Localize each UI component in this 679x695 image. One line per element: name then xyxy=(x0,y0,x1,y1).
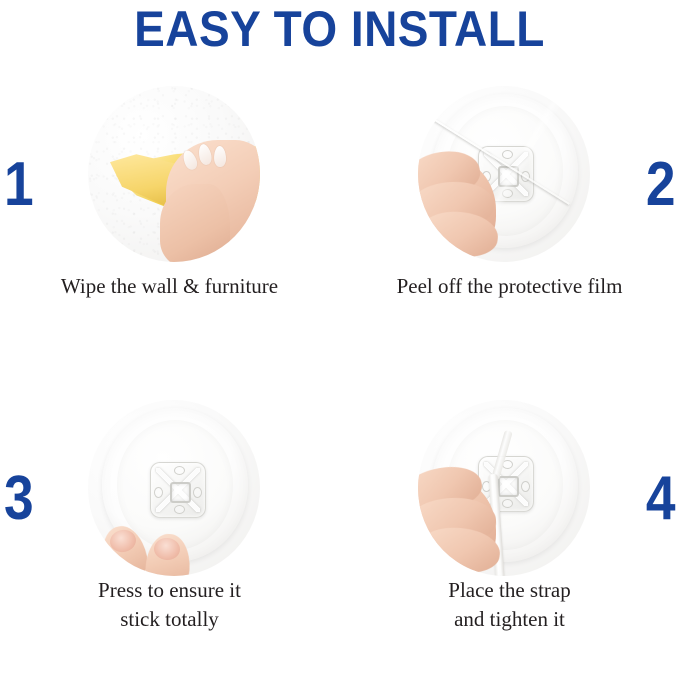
mount-center-hole-icon xyxy=(498,476,519,497)
step-4-photo xyxy=(418,400,590,576)
step-number-2: 2 xyxy=(645,154,675,216)
mount-center-hole-icon xyxy=(170,482,191,503)
mount-slot-bottom-icon xyxy=(502,189,513,198)
step-number-3: 3 xyxy=(4,468,34,530)
mount-slot-bottom-icon xyxy=(174,505,185,514)
step-4-caption: Place the strap and tighten it xyxy=(340,576,679,634)
mount-slot-left-icon xyxy=(154,487,163,498)
fingernail-icon xyxy=(197,143,213,166)
fingernail-icon xyxy=(170,194,191,216)
hand-icon xyxy=(166,140,260,262)
install-steps-grid: 1 Wipe the wall & furniture 2 xyxy=(0,66,679,695)
step-2-caption: Peel off the protective film xyxy=(340,272,679,301)
mount-slot-right-icon xyxy=(193,487,202,498)
mount-slot-right-icon xyxy=(521,481,530,492)
step-number-4: 4 xyxy=(645,468,675,530)
cable-tie-mount-icon xyxy=(150,462,206,518)
step-3-photo xyxy=(88,400,260,576)
install-step-4: 4 Place the strap and tighten it xyxy=(340,380,679,680)
fingernail-icon xyxy=(214,146,227,167)
page-title: EASY TO INSTALL xyxy=(27,2,652,56)
step-number-1: 1 xyxy=(4,154,34,216)
install-step-1: 1 Wipe the wall & furniture xyxy=(0,66,339,366)
fingernail-icon xyxy=(181,148,200,171)
install-step-3: 3 Press to ensure it stick totally xyxy=(0,380,339,680)
mount-slot-top-icon xyxy=(174,466,185,475)
step-1-photo xyxy=(88,86,260,262)
install-step-2: 2 Peel off the protective film xyxy=(340,66,679,366)
step-2-photo xyxy=(418,86,590,262)
mount-slot-top-icon xyxy=(502,150,513,159)
step-1-caption: Wipe the wall & furniture xyxy=(0,272,339,301)
step-3-caption: Press to ensure it stick totally xyxy=(0,576,339,634)
mount-slot-bottom-icon xyxy=(502,499,513,508)
